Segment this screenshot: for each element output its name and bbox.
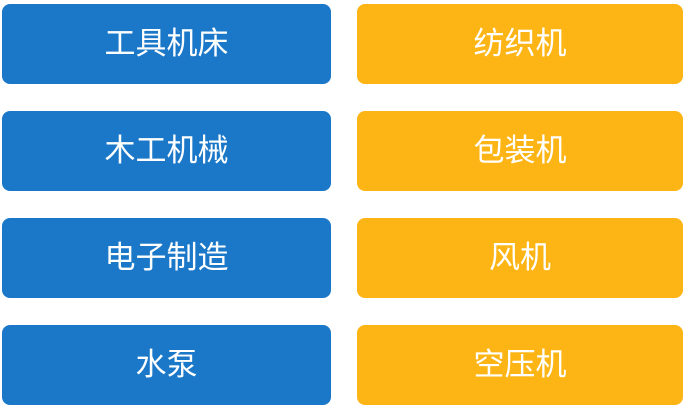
category-button-label: 电子制造 [105,243,229,274]
category-button-label: 包装机 [474,136,567,167]
grid-cell-row3-left: 电子制造 [0,214,355,321]
category-button-machine-tool[interactable]: 工具机床 [2,4,331,84]
category-button-packaging-machine[interactable]: 包装机 [357,111,683,191]
category-button-water-pump[interactable]: 水泵 [2,325,331,405]
category-button-label: 工具机床 [105,29,229,60]
grid-cell-row4-right: 空压机 [355,321,686,406]
button-grid-page: 工具机床 纺织机 木工机械 包装机 电子制造 风机 [0,0,686,406]
grid-cell-row4-left: 水泵 [0,321,355,406]
category-button-label: 空压机 [474,350,567,381]
category-button-label: 水泵 [136,350,198,381]
grid-cell-row1-right: 纺织机 [355,0,686,107]
grid-cell-row3-right: 风机 [355,214,686,321]
category-button-grid: 工具机床 纺织机 木工机械 包装机 电子制造 风机 [0,0,686,406]
category-button-label: 风机 [489,243,551,274]
grid-cell-row2-right: 包装机 [355,107,686,214]
category-button-label: 纺织机 [474,29,567,60]
category-button-air-compressor[interactable]: 空压机 [357,325,683,405]
category-button-woodworking-machinery[interactable]: 木工机械 [2,111,331,191]
category-button-electronics-manufacturing[interactable]: 电子制造 [2,218,331,298]
grid-cell-row2-left: 木工机械 [0,107,355,214]
category-button-fan[interactable]: 风机 [357,218,683,298]
category-button-label: 木工机械 [105,136,229,167]
category-button-textile-machine[interactable]: 纺织机 [357,4,683,84]
grid-cell-row1-left: 工具机床 [0,0,355,107]
